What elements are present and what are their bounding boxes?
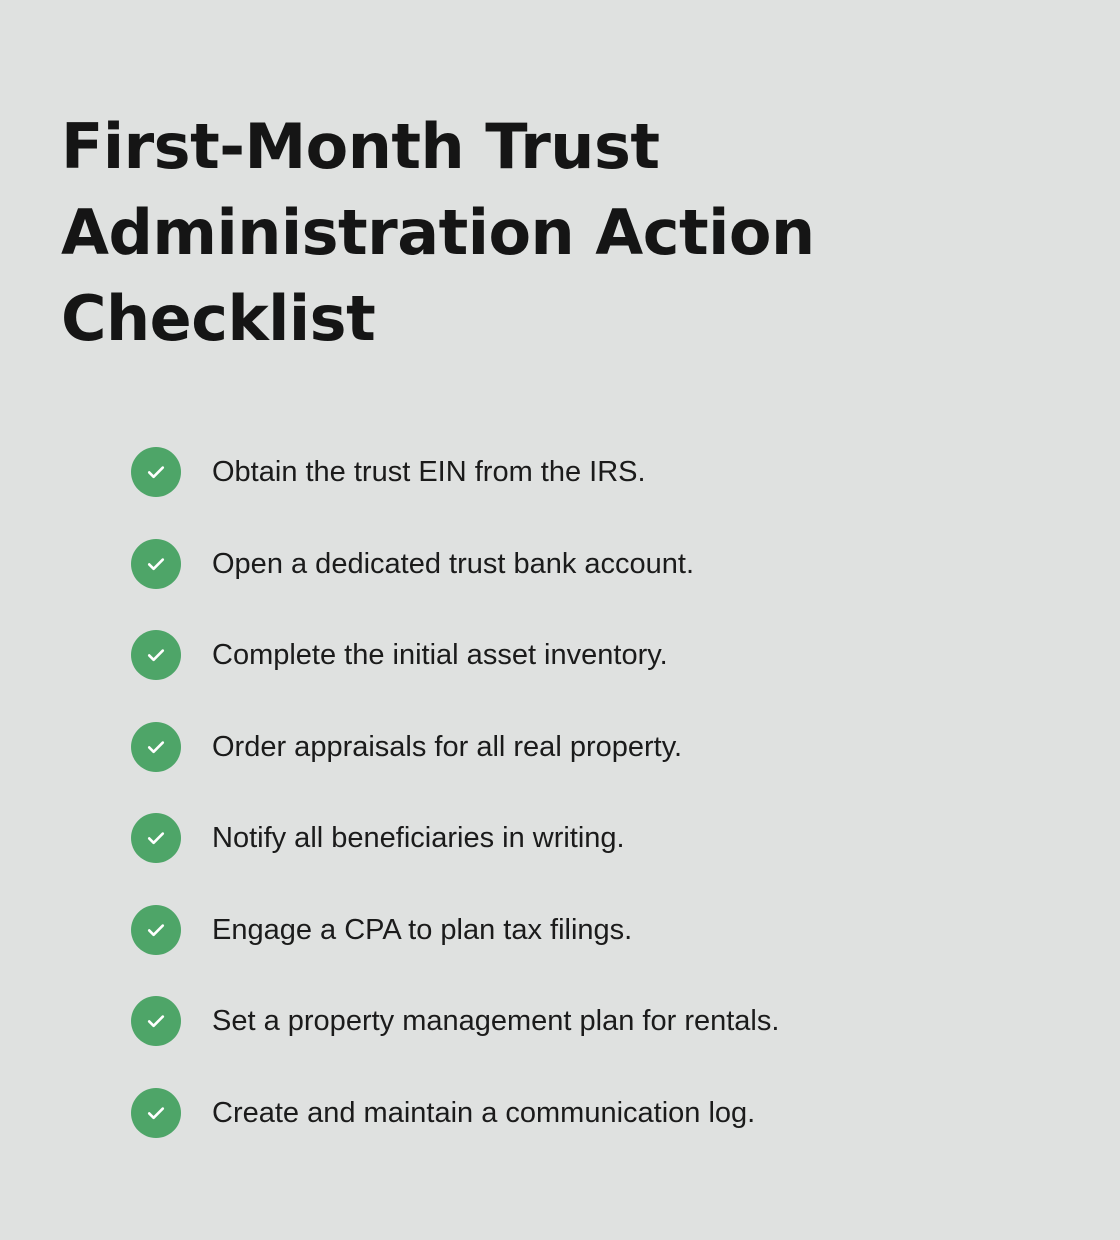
- check-circle-icon: [131, 996, 181, 1046]
- list-item-label: Open a dedicated trust bank account.: [212, 539, 694, 589]
- list-item-label: Create and maintain a communication log.: [212, 1088, 755, 1138]
- list-item: Open a dedicated trust bank account.: [131, 539, 1031, 589]
- list-item-label: Obtain the trust EIN from the IRS.: [212, 447, 646, 497]
- list-item: Obtain the trust EIN from the IRS.: [131, 447, 1031, 497]
- list-item: Order appraisals for all real property.: [131, 722, 1031, 772]
- check-circle-icon: [131, 1088, 181, 1138]
- checklist-infographic: First-Month Trust Administration Action …: [0, 0, 1120, 1240]
- list-item: Engage a CPA to plan tax filings.: [131, 905, 1031, 955]
- list-item: Complete the initial asset inventory.: [131, 630, 1031, 680]
- list-item-label: Set a property management plan for renta…: [212, 996, 779, 1046]
- check-circle-icon: [131, 813, 181, 863]
- check-circle-icon: [131, 539, 181, 589]
- list-item: Set a property management plan for renta…: [131, 996, 1031, 1046]
- check-circle-icon: [131, 630, 181, 680]
- list-item-label: Complete the initial asset inventory.: [212, 630, 668, 680]
- list-item-label: Engage a CPA to plan tax filings.: [212, 905, 632, 955]
- list-item-label: Order appraisals for all real property.: [212, 722, 682, 772]
- list-item: Notify all beneficiaries in writing.: [131, 813, 1031, 863]
- check-circle-icon: [131, 722, 181, 772]
- list-item-label: Notify all beneficiaries in writing.: [212, 813, 625, 863]
- check-circle-icon: [131, 447, 181, 497]
- list-item: Create and maintain a communication log.: [131, 1088, 1031, 1138]
- check-circle-icon: [131, 905, 181, 955]
- page-title: First-Month Trust Administration Action …: [61, 104, 821, 362]
- checklist: Obtain the trust EIN from the IRS. Open …: [131, 447, 1031, 1138]
